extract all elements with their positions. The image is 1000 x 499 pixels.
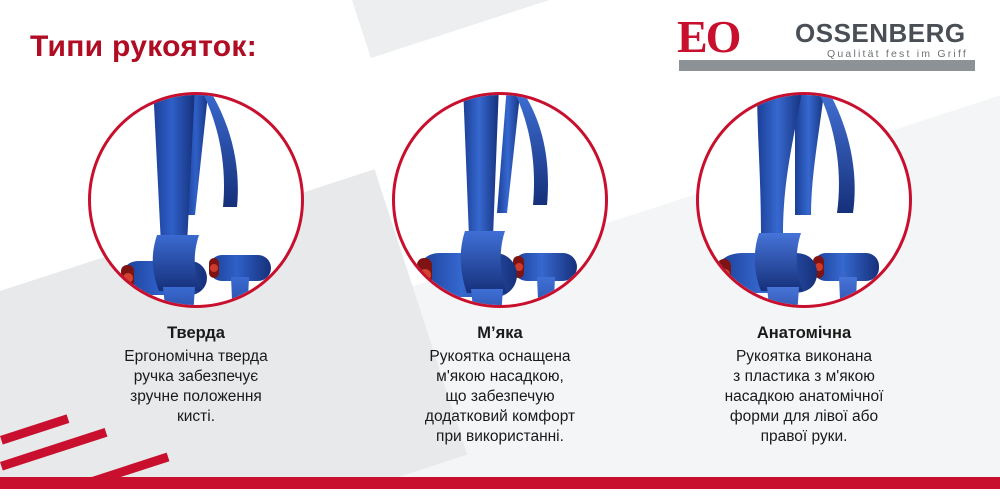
card-text-anatomic: Рукоятка виконана з пластика з м'якою на… — [725, 347, 884, 447]
card-soft-handle: М’яка Рукоятка оснащена м'якою насадкою,… — [369, 92, 631, 447]
promo-banner: Типи рукояток: EO OSSENBERG Qualität fes… — [0, 0, 1000, 499]
card-title-soft: М’яка — [477, 324, 522, 343]
card-text-soft: Рукоятка оснащена м'якою насадкою, що за… — [425, 347, 575, 447]
decor-bottom-white-bar — [0, 489, 1000, 499]
crutch-hard-handle-icon — [91, 95, 301, 305]
handle-type-cards: Тверда Ергономічна тверда ручка забезпеч… — [0, 92, 1000, 447]
crutch-soft-handle-icon — [395, 95, 605, 305]
card-image-soft — [392, 92, 608, 308]
card-image-anatomic — [696, 92, 912, 308]
card-text-hard: Ергономічна тверда ручка забезпечує зруч… — [124, 347, 267, 427]
card-title-anatomic: Анатомічна — [757, 324, 851, 343]
crutch-anatomic-handle-icon — [699, 95, 909, 305]
card-hard-handle: Тверда Ергономічна тверда ручка забезпеч… — [65, 92, 327, 447]
logo-brand-name: OSSENBERG — [795, 18, 966, 49]
brand-logo: EO OSSENBERG Qualität fest im Griff — [677, 14, 982, 76]
page-title: Типи рукояток: — [30, 30, 257, 64]
logo-slogan: Qualität fest im Griff — [827, 48, 968, 60]
logo-mark: EO — [677, 14, 739, 60]
card-anatomic-handle: Анатомічна Рукоятка виконана з пластика … — [673, 92, 935, 447]
card-title-hard: Тверда — [167, 324, 225, 343]
card-image-hard — [88, 92, 304, 308]
